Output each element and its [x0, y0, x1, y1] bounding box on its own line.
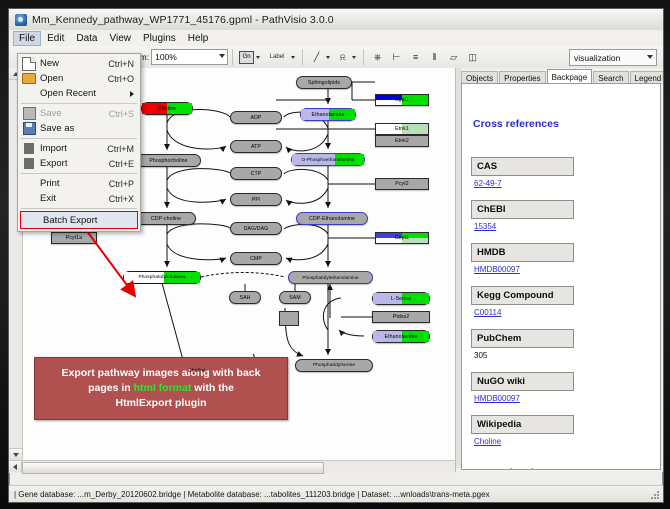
xref-value-cas[interactable]: 62-49-7 [474, 179, 502, 188]
menu-edit[interactable]: Edit [41, 31, 70, 46]
menu-separator-4 [21, 208, 137, 209]
chevron-down-icon [219, 54, 225, 58]
menu-item-label: Save as [40, 123, 134, 134]
node-cept1[interactable]: Cept1 [375, 232, 429, 244]
interaction-dropdown-icon[interactable] [352, 56, 356, 59]
node-etnk2[interactable]: Etnk2 [375, 135, 429, 147]
line-dropdown-icon[interactable] [326, 56, 330, 59]
label-tool-icon[interactable]: Label [264, 49, 290, 66]
menu-item-accelerator: Ctrl+O [108, 74, 140, 84]
xref-value-pubchem: 305 [474, 351, 487, 360]
node-label: Sphingolipids [308, 80, 340, 86]
import-icon [18, 143, 40, 154]
node-cdp-ethanolamine[interactable]: CDP-Ethanolamine [296, 212, 368, 225]
node-label: L-Serine [391, 296, 411, 302]
node-label: Pcyt2 [395, 181, 408, 187]
menu-item-exit[interactable]: Exit Ctrl+X [18, 191, 140, 206]
node-label: Ptdss2 [393, 314, 409, 320]
node-label: CTP [251, 171, 262, 177]
side-panel: Objects Properties Backpage Search Legen… [456, 68, 663, 472]
toolbar-separator-3 [363, 49, 364, 65]
xref-label-nugo: NuGO wiki [471, 372, 574, 391]
node-label: Ethanolamine [385, 334, 418, 340]
file-menu-dropdown[interactable]: New Ctrl+N Open Ctrl+O Open Recent Save … [17, 53, 141, 232]
triangle-down-icon [13, 453, 19, 457]
node-dag[interactable]: DAG/DAG [230, 222, 282, 235]
node-ctp[interactable]: CTP [230, 167, 282, 180]
title-bar: Mm_Kennedy_pathway_WP1771_45176.gpml - P… [9, 9, 663, 31]
node-label: CDP-choline [151, 216, 181, 222]
canvas-horizontal-scrollbar[interactable] [9, 460, 455, 473]
scrollbar-thumb[interactable] [22, 462, 324, 474]
node-sgpl1[interactable]: Sgpl1 [375, 94, 429, 106]
pathvisio-window: Mm_Kennedy_pathway_WP1771_45176.gpml - P… [8, 8, 664, 503]
menu-separator-2 [21, 138, 137, 139]
node-label: O-Phosphoethanolamine [302, 157, 355, 162]
align-left-icon[interactable]: ⊢ [388, 49, 405, 66]
align-rows-icon[interactable]: ≡ [407, 49, 424, 66]
callout-html-format: html format [134, 382, 192, 394]
callout-line-3: HtmlExport plugin [116, 396, 207, 411]
node-cmp[interactable]: CMP [230, 252, 282, 265]
menu-item-accelerator: Ctrl+N [108, 59, 140, 69]
node-label: SAM [289, 295, 301, 301]
chevron-right-icon [130, 91, 134, 97]
node-l-serine[interactable]: L-Serine [372, 292, 430, 305]
callout-line-1: Export pathway images along with back [62, 366, 261, 381]
node-o-phosphoethanolamine[interactable]: O-Phosphoethanolamine [291, 153, 365, 166]
status-text: | Gene database: ...m_Derby_20120602.bri… [9, 490, 490, 499]
resize-grip-icon[interactable] [649, 489, 661, 501]
menu-item-new[interactable]: New Ctrl+N [18, 56, 140, 71]
zoom-value: 100% [155, 52, 177, 62]
expression-data-heading: Expression data [471, 468, 548, 470]
menu-item-label: New [40, 58, 108, 69]
xref-value-hmdb[interactable]: HMDB00097 [474, 265, 520, 274]
desktop-background: Mm_Kennedy_pathway_WP1771_45176.gpml - P… [0, 0, 670, 509]
tab-backpage[interactable]: Backpage [547, 69, 593, 84]
node-label: ADP [251, 115, 262, 121]
cross-references-heading: Cross references [473, 118, 559, 130]
node-label: Choline [158, 106, 176, 112]
chevron-down-icon [647, 55, 653, 59]
menu-item-print[interactable]: Print Ctrl+P [18, 176, 140, 191]
xref-label-hmdb: HMDB [471, 243, 574, 262]
node-pcyt2[interactable]: Pcyt2 [375, 178, 429, 190]
xref-value-kegg[interactable]: C00114 [474, 308, 501, 317]
export-icon [18, 158, 40, 169]
pathvisio-icon [15, 14, 27, 26]
xref-label-pubchem: PubChem [471, 329, 574, 348]
xref-label-chebi: ChEBI [471, 200, 574, 219]
menu-view[interactable]: View [103, 31, 137, 46]
status-bar: | Gene database: ...m_Derby_20120602.bri… [9, 485, 663, 502]
node-phosphatidylethanolamine[interactable]: Phosphatidylethanolamine [288, 271, 373, 284]
node-etnk1[interactable]: Etnk1 [375, 123, 429, 135]
node-label: SAH [240, 295, 251, 301]
node-ethanolamine-top[interactable]: Ethanolamine [300, 108, 356, 121]
node-label: PPi [252, 197, 260, 203]
interaction-tool-icon[interactable]: ⍾ [334, 49, 351, 66]
node-atp[interactable]: ATP [230, 140, 282, 153]
xref-label-cas: CAS [471, 157, 574, 176]
node-ethanolamine-bottom[interactable]: Ethanolamine [372, 330, 430, 343]
xref-value-chebi[interactable]: 15354 [474, 222, 496, 231]
node-cdp-choline[interactable]: CDP-choline [136, 212, 196, 225]
window-title: Mm_Kennedy_pathway_WP1771_45176.gpml - P… [32, 14, 334, 26]
menu-item-label: Batch Export [43, 215, 137, 226]
stack-bottom-icon[interactable]: ⏥ [445, 49, 462, 66]
node-label: Ethanolamine [312, 112, 345, 118]
node-sah[interactable]: SAH [229, 291, 261, 304]
menu-item-open-recent[interactable]: Open Recent [18, 86, 140, 101]
menu-item-label: Exit [40, 193, 109, 204]
save-as-icon [18, 122, 40, 135]
menu-item-label: Print [40, 178, 109, 189]
node-phosphatidylcholines[interactable]: Phosphatidylcholines [123, 271, 201, 284]
gene-box-icon: Gn [239, 51, 254, 64]
node-label: Phosphatidylethanolamine [302, 275, 358, 280]
xref-value-wikipedia[interactable]: Choline [474, 437, 501, 446]
backpage-content: Cross references CAS 62-49-7 ChEBI 15354… [461, 83, 661, 470]
menu-item-save-as[interactable]: Save as [18, 121, 140, 136]
menu-bar: File Edit Data View Plugins Help [9, 30, 664, 47]
node-label: ATP [251, 144, 261, 150]
node-label: Choline [188, 368, 206, 374]
stack-right-icon[interactable]: ◫ [464, 49, 481, 66]
node-label: CDP-Ethanolamine [309, 216, 355, 222]
node-pcyt1a[interactable]: Pcyt1a [51, 232, 97, 244]
menu-item-accelerator: Ctrl+E [109, 159, 140, 169]
open-folder-icon [18, 73, 40, 84]
menu-separator [21, 103, 137, 104]
node-choline-top[interactable]: Choline [141, 102, 193, 115]
menu-separator-3 [21, 173, 137, 174]
align-top-icon[interactable]: ⎈ [369, 49, 386, 66]
node-sam[interactable]: SAM [279, 291, 311, 304]
label-dropdown-icon[interactable] [291, 56, 295, 59]
node-ppi[interactable]: PPi [230, 193, 282, 206]
datanode-dropdown-icon[interactable] [256, 56, 260, 59]
node-label: Phosphatidylcholines [138, 275, 185, 280]
node-label: Etnk1 [395, 126, 409, 132]
node-label: CMP [250, 256, 262, 262]
menu-item-import[interactable]: Import Ctrl+M [18, 141, 140, 156]
node-label: Cept1 [395, 235, 409, 241]
triangle-left-icon [13, 464, 17, 470]
node-anchor-box[interactable] [279, 311, 299, 326]
node-label: Pcyt1a [66, 235, 82, 241]
scroll-down-button[interactable] [9, 448, 22, 460]
panel-tab-strip: Objects Properties Backpage Search Legen… [461, 69, 661, 84]
menu-item-accelerator: Ctrl+X [109, 194, 140, 204]
node-label: Phosphocholine [149, 158, 187, 164]
menu-file[interactable]: File [13, 31, 41, 46]
callout-line-2-part-a: pages in [88, 382, 134, 394]
visualization-combobox[interactable]: visualization [569, 49, 657, 66]
menu-item-accelerator: Ctrl+S [109, 109, 140, 119]
menu-plugins[interactable]: Plugins [137, 31, 182, 46]
node-phosphatidylserine[interactable]: Phosphatidylserine [295, 359, 373, 372]
menu-item-accelerator: Ctrl+P [109, 179, 140, 189]
xref-label-kegg: Kegg Compound [471, 286, 574, 305]
menu-item-label: Save [40, 108, 109, 119]
menu-help[interactable]: Help [182, 31, 215, 46]
node-adp[interactable]: ADP [230, 111, 282, 124]
xref-label-wikipedia: Wikipedia [471, 415, 574, 434]
menu-item-label: Export [40, 158, 109, 169]
menu-item-export[interactable]: Export Ctrl+E [18, 156, 140, 171]
line-tool-icon[interactable]: ╱ [308, 49, 325, 66]
visualization-value: visualization [574, 53, 620, 63]
align-columns-icon[interactable]: ⫴ [426, 49, 443, 66]
node-label: Phosphatidylserine [313, 363, 355, 368]
menu-item-open[interactable]: Open Ctrl+O [18, 71, 140, 86]
menu-item-label: Import [40, 143, 107, 154]
node-phosphocholine[interactable]: Phosphocholine [136, 154, 201, 167]
annotation-callout: Export pathway images along with back pa… [34, 357, 288, 420]
menu-item-label: Open [40, 73, 108, 84]
toolbar-separator-2 [302, 49, 303, 65]
node-label: Etnk2 [395, 138, 409, 144]
menu-data[interactable]: Data [70, 31, 103, 46]
node-ptdss2[interactable]: Ptdss2 [372, 311, 430, 323]
menu-item-save: Save Ctrl+S [18, 106, 140, 121]
scroll-left-button[interactable] [9, 461, 22, 472]
new-file-icon [18, 57, 40, 71]
menu-item-label: Open Recent [40, 88, 130, 99]
node-label: Sgpl1 [395, 97, 409, 103]
callout-line-2: pages in html format with the [88, 381, 234, 396]
save-disk-icon [18, 107, 40, 120]
node-label: DAG/DAG [244, 226, 269, 232]
menu-item-accelerator: Ctrl+M [107, 144, 140, 154]
callout-line-2-part-b: with the [191, 382, 234, 394]
zoom-combobox[interactable]: 100% [151, 49, 228, 65]
node-sphingolipids[interactable]: Sphingolipids [296, 76, 352, 89]
datanode-tool-icon[interactable]: Gn [238, 49, 255, 66]
menu-item-batch-export[interactable]: Batch Export [20, 211, 138, 229]
toolbar-separator [232, 49, 233, 65]
xref-value-nugo[interactable]: HMDB00097 [474, 394, 520, 403]
